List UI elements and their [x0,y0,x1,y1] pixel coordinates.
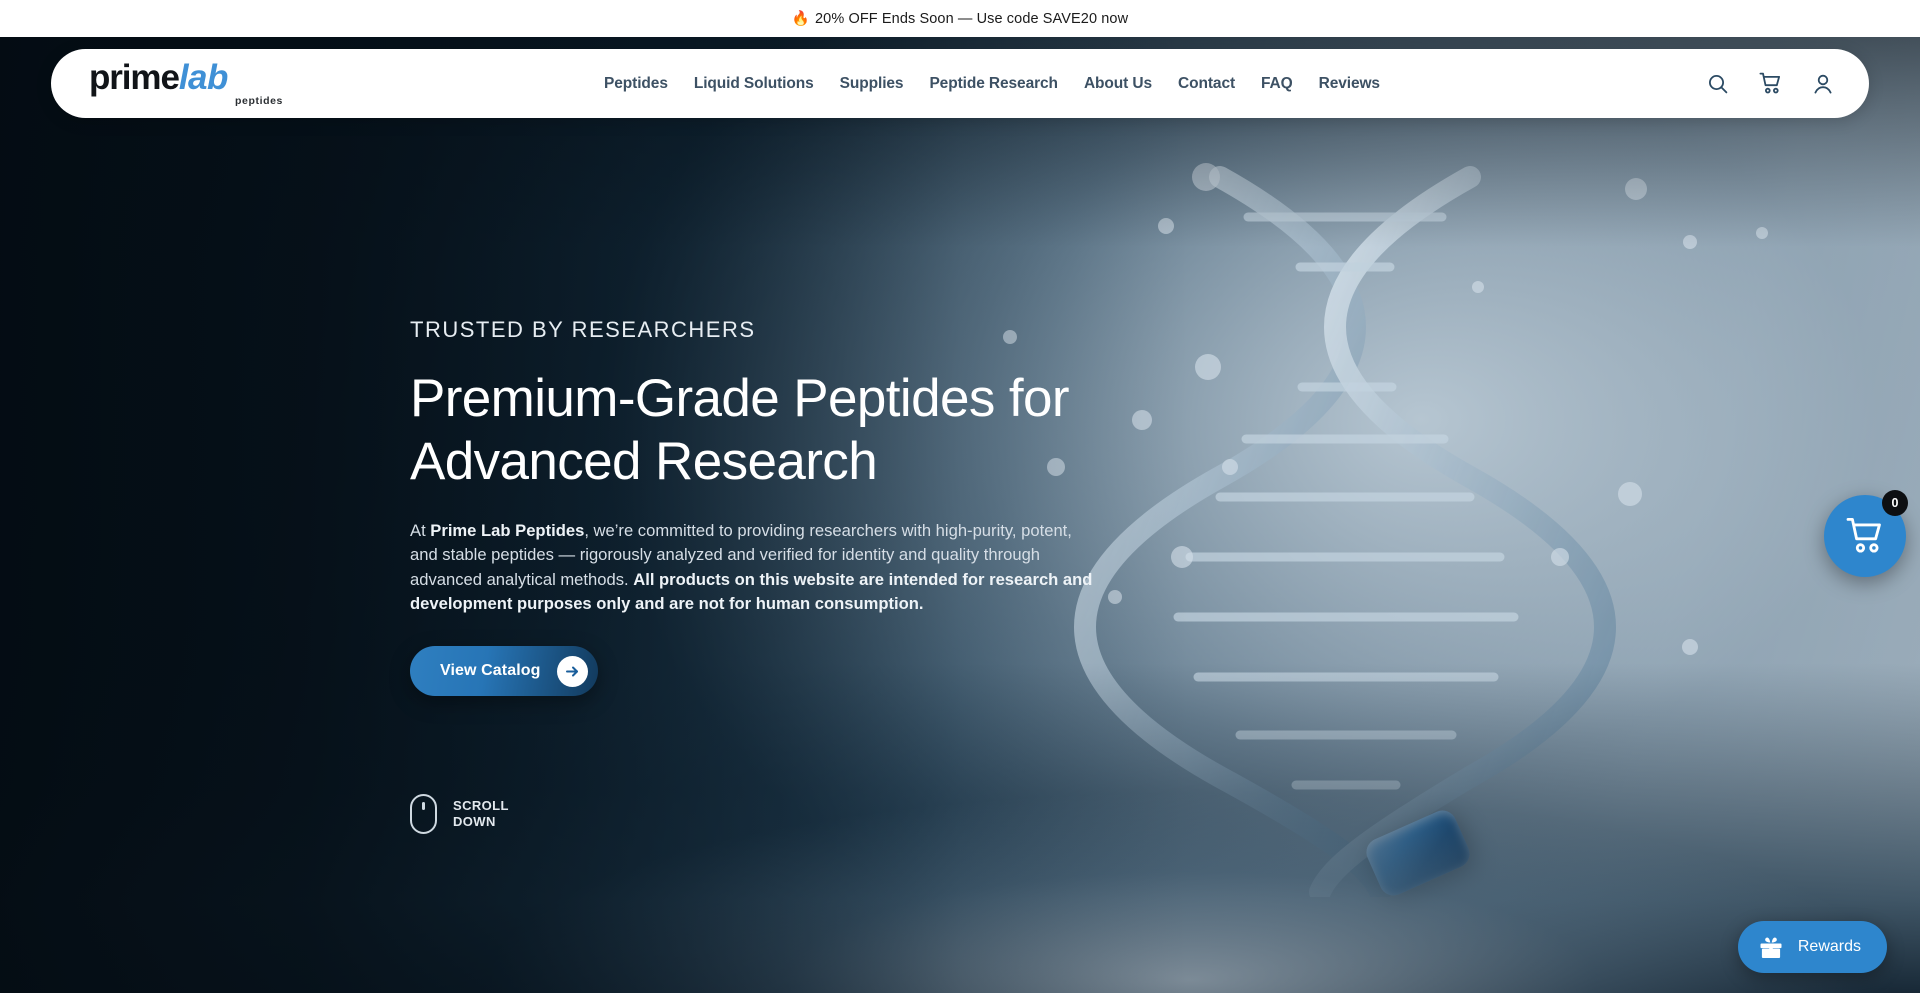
logo-subtitle: peptides [235,96,283,107]
hero-description: At Prime Lab Peptides, we’re committed t… [410,519,1100,616]
view-catalog-button[interactable]: View Catalog [410,646,598,696]
nav-item-about-us[interactable]: About Us [1084,75,1152,93]
hero-brand-name: Prime Lab Peptides [430,521,584,540]
header-pill: primelab peptides Peptides Liquid Soluti… [51,49,1869,118]
logo-primary-text: prime [89,58,179,97]
arrow-right-icon [557,656,588,687]
nav-item-reviews[interactable]: Reviews [1319,75,1380,93]
hero-section: primelab peptides Peptides Liquid Soluti… [0,37,1920,993]
account-icon[interactable] [1811,72,1835,96]
hero-content: TRUSTED BY RESEARCHERS Premium-Grade Pep… [410,317,1110,696]
scroll-down-label: SCROLL DOWN [453,798,509,831]
mouse-icon [410,794,437,834]
site-header: primelab peptides Peptides Liquid Soluti… [51,49,1869,118]
hero-headline: Premium-Grade Peptides for Advanced Rese… [410,367,1100,493]
nav-item-peptide-research[interactable]: Peptide Research [929,75,1058,93]
nav-item-faq[interactable]: FAQ [1261,75,1293,93]
main-navigation: Peptides Liquid Solutions Supplies Pepti… [289,75,1695,93]
announcement-bar: 🔥 20% OFF Ends Soon — Use code SAVE20 no… [0,0,1920,37]
rewards-button[interactable]: Rewards [1738,921,1887,973]
search-icon[interactable] [1706,72,1730,96]
mouse-wheel [422,802,425,810]
nav-item-liquid-solutions[interactable]: Liquid Solutions [694,75,814,93]
nav-item-peptides[interactable]: Peptides [604,75,668,93]
nav-item-contact[interactable]: Contact [1178,75,1235,93]
announcement-text: 20% OFF Ends Soon — Use code SAVE20 now [815,11,1128,27]
header-actions [1695,71,1835,96]
flame-icon: 🔥 [792,10,810,27]
site-logo[interactable]: primelab peptides [89,60,289,107]
cart-icon [1844,515,1886,557]
nav-item-supplies[interactable]: Supplies [840,75,904,93]
gift-icon [1758,934,1784,960]
logo-accent-text: lab [179,58,228,97]
logo-wordmark: primelab [89,60,228,95]
cart-count-badge: 0 [1882,490,1908,516]
rewards-label: Rewards [1798,938,1861,956]
hero-eyebrow: TRUSTED BY RESEARCHERS [410,317,1110,343]
scroll-line-1: SCROLL [453,798,509,813]
hero-body-lead: At [410,521,430,540]
view-catalog-label: View Catalog [440,662,541,680]
cart-icon[interactable] [1758,71,1783,96]
scroll-line-2: DOWN [453,814,496,829]
floating-cart-button[interactable]: 0 [1824,495,1906,577]
scroll-down-indicator[interactable]: SCROLL DOWN [410,794,509,834]
